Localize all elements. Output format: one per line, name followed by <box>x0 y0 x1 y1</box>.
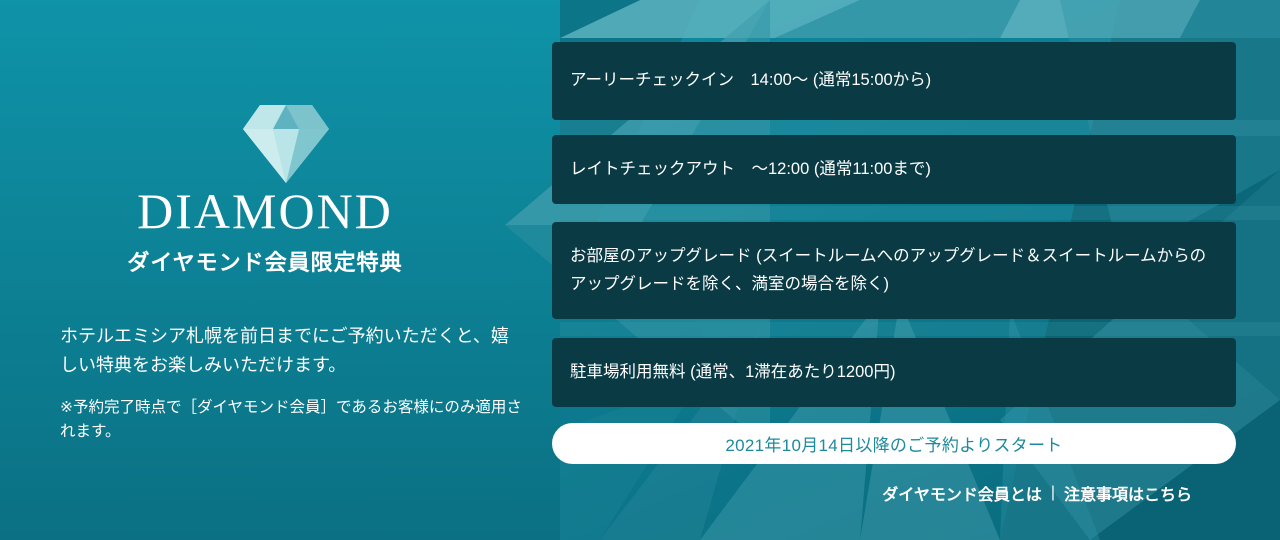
footer-separator: | <box>1051 484 1055 502</box>
benefit-text: お部屋のアップグレード (スイートルームへのアップグレード＆スイートルームからの… <box>570 243 1218 298</box>
benefit-text: レイトチェックアウト ～12:00 (通常11:00まで) <box>570 156 931 183</box>
benefit-text: 駐車場利用無料 (通常、1滞在あたり1200円) <box>570 359 895 386</box>
benefit-card-free-parking: 駐車場利用無料 (通常、1滞在あたり1200円) <box>552 338 1236 407</box>
benefit-text: アーリーチェックイン 14:00～ (通常15:00から) <box>570 67 931 94</box>
note-copy: ※予約完了時点で［ダイヤモンド会員］であるお客様にのみ適用されます。 <box>60 396 522 445</box>
page-subtitle: ダイヤモンド会員限定特典 <box>0 250 530 276</box>
benefit-card-early-check-in: アーリーチェックイン 14:00～ (通常15:00から) <box>552 42 1236 120</box>
footer-links: ダイヤモンド会員とは | 注意事項はこちら <box>882 481 1192 505</box>
diamond-icon <box>243 105 329 183</box>
start-date-cta-label: 2021年10月14日以降のご予約よりスタート <box>725 431 1062 456</box>
brand-panel: DIAMOND ダイヤモンド会員限定特典 ホテルエミシア札幌を前日までにご予約い… <box>0 0 530 540</box>
link-about-diamond-member[interactable]: ダイヤモンド会員とは <box>882 481 1042 505</box>
diamond-benefits-banner: DIAMOND ダイヤモンド会員限定特典 ホテルエミシア札幌を前日までにご予約い… <box>0 0 1280 540</box>
benefit-card-room-upgrade: お部屋のアップグレード (スイートルームへのアップグレード＆スイートルームからの… <box>552 222 1236 319</box>
benefit-card-late-check-out: レイトチェックアウト ～12:00 (通常11:00まで) <box>552 135 1236 204</box>
page-title: DIAMOND <box>0 186 530 236</box>
start-date-cta[interactable]: 2021年10月14日以降のご予約よりスタート <box>552 423 1236 464</box>
link-notes[interactable]: 注意事項はこちら <box>1064 481 1192 505</box>
lead-copy: ホテルエミシア札幌を前日までにご予約いただくと、嬉しい特典をお楽しみいただけます… <box>60 322 520 380</box>
benefits-panel: アーリーチェックイン 14:00～ (通常15:00から) レイトチェックアウト… <box>552 0 1236 540</box>
